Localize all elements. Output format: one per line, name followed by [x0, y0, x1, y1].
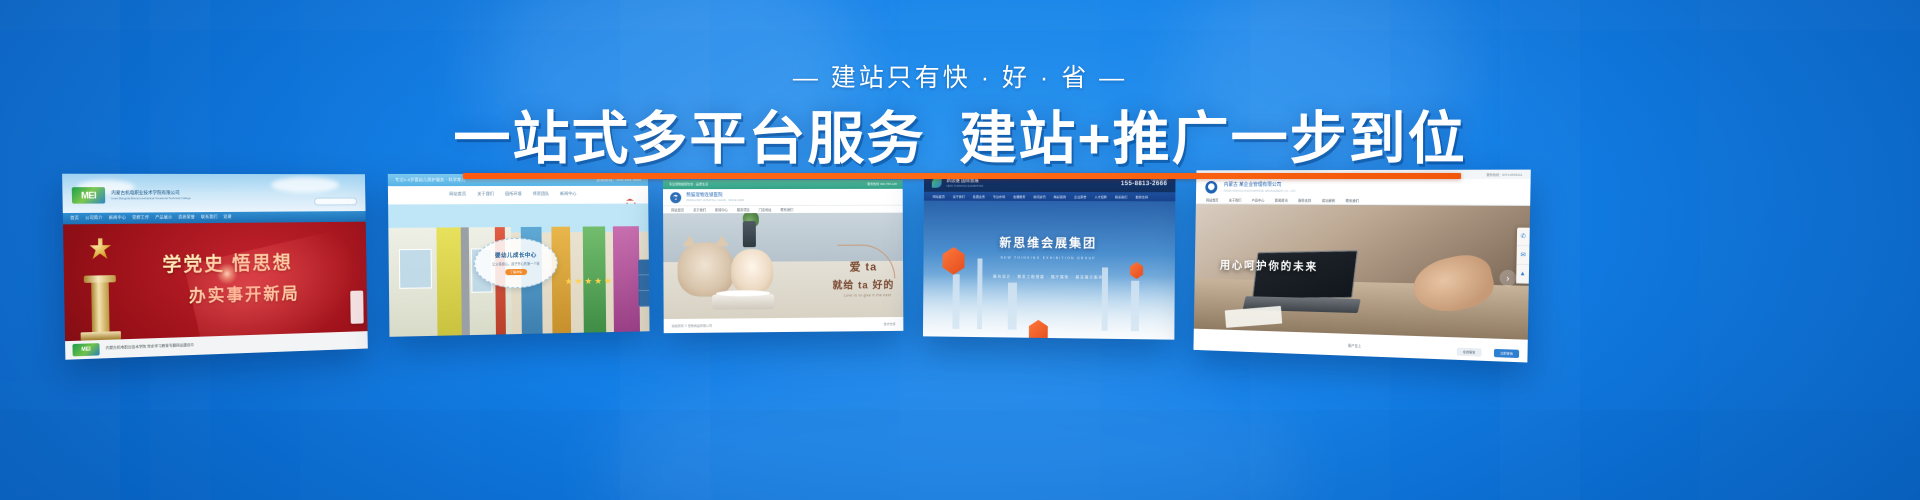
hero-photo-cats: 爱 ta 就给 ta 好的 Love is to give it the bes… — [663, 213, 903, 319]
party-emblem-icon — [86, 236, 113, 261]
nav-item[interactable]: 网站首页 — [671, 207, 684, 212]
website-card-pet[interactable]: 专注宠物健康饮食 · 品质生活 服务热线 400-766-128 熊猫宠物连锁医… — [663, 180, 903, 333]
hero-overlay-text: 用心呵护你的未来 — [1220, 257, 1319, 275]
footer-copyright: 版权所有 © 宠物用品有限公司 — [672, 324, 712, 328]
polygon-decoration — [941, 247, 967, 275]
hero-banner-party: 学党史 悟思想 办实事开新局 — [63, 222, 368, 341]
nav-item[interactable]: 服务项目 — [737, 207, 750, 212]
headline-left: 一站式多平台服务 — [453, 107, 925, 171]
banner-headline: 一站式多平台服务建站+推广一步到位 — [453, 108, 1466, 172]
bubble-subtitle: 让父母放心，孩子开心的第一个家 — [492, 261, 540, 267]
nav-item[interactable]: 联系我们 — [201, 214, 218, 220]
nav-item[interactable]: 联系我们 — [780, 207, 793, 212]
window-shape — [399, 249, 432, 289]
card-footer: 版权所有 © 宠物用品有限公司 技术支持 — [664, 317, 904, 333]
phone-icon[interactable] — [638, 260, 649, 276]
nav-item[interactable]: 首页 — [70, 215, 79, 221]
floating-side-widget[interactable] — [350, 291, 363, 324]
building-shape — [1007, 283, 1016, 330]
back-to-top-icon[interactable] — [639, 291, 650, 307]
wall-stripe — [437, 228, 462, 336]
wall-stripe — [613, 227, 639, 332]
hero-callout-bubble: 婴幼儿成长中心 让父母放心，孩子开心的第一个家 了解详情 — [474, 237, 558, 288]
hero-slogan-line2: 就给 ta 好的 — [832, 276, 894, 291]
headline-accent-underline — [463, 173, 1460, 179]
promo-banner: — 建站只有快 · 好 · 省 — 一站式多平台服务建站+推广一步到位 MEI … — [0, 0, 1920, 500]
back-to-top-icon[interactable]: ▲ — [1516, 265, 1529, 284]
headline-right: 建站+推广一步到位 — [959, 107, 1466, 171]
footer-text: 内蒙古机电职业技术学院 党史学习教育专题网站建设中 — [106, 343, 194, 351]
nav-item[interactable]: 新闻中心 — [715, 207, 728, 212]
building-shape — [953, 274, 960, 328]
hero-photo-office: 用心呵护你的未来 › — [1194, 204, 1530, 340]
hero-banner-exhibition: 新思维会展集团 NEW THINKING EXHIBITION GROUP 展台… — [923, 201, 1175, 340]
nav-item[interactable]: 资质荣誉 — [178, 214, 195, 220]
banner-tagline: — 建站只有快 · 好 · 省 — — [0, 58, 1920, 94]
message-icon[interactable]: ✉ — [1516, 246, 1529, 265]
hero-slogan-line1: 爱 ta — [832, 259, 894, 275]
nav-item[interactable]: 新闻中心 — [109, 215, 126, 221]
hero-photo-school: ★★★★★ 婴幼儿成长中心 让父母放心，孩子开心的第一个家 了解详情 — [388, 204, 649, 337]
hero-slogan-cn: 爱 ta 就给 ta 好的 — [832, 259, 894, 292]
hero-slogan-line1: 学党史 悟思想 — [162, 248, 293, 277]
card-screenshot-pet: 专注宠物健康饮食 · 品质生活 服务热线 400-766-128 熊猫宠物连锁医… — [663, 180, 903, 333]
building-shape — [977, 258, 982, 329]
floating-tools-rail[interactable] — [638, 260, 649, 307]
bubble-title: 婴幼儿成长中心 — [495, 251, 537, 259]
nav-item[interactable]: 关于我们 — [693, 207, 706, 212]
monument-column-icon — [91, 280, 110, 341]
vase-shape — [743, 221, 756, 247]
primary-button[interactable]: 立即咨询 — [1494, 349, 1519, 358]
sparkle-icon — [216, 263, 238, 285]
nav-item[interactable]: 门店地址 — [759, 207, 772, 212]
bubble-cta-button[interactable]: 了解详情 — [505, 269, 527, 275]
hero-slogan-line2: 办实事开新局 — [189, 279, 300, 307]
footer-credit: 技术支持 — [884, 322, 896, 326]
nav-item[interactable]: 党群工作 — [132, 214, 149, 220]
pet-bowl-shape — [712, 294, 774, 310]
nav-list[interactable]: 首页 公司简介 新闻中心 党群工作 产品展示 资质荣誉 联系我们 党建 — [63, 213, 366, 221]
nav-item[interactable]: 产品展示 — [155, 214, 172, 220]
floating-tools-rail[interactable]: ✆ ✉ ▲ — [1516, 227, 1530, 283]
footer-text: 客户至上 — [1348, 342, 1361, 347]
website-card-party[interactable]: MEI 内蒙古机电职业技术学院有限公司 Inner Mongolia Elect… — [62, 174, 368, 360]
cat-photo-left — [678, 243, 735, 298]
cat-photo-right — [731, 249, 773, 293]
carousel-next-icon[interactable]: › — [1499, 270, 1516, 287]
nav-item[interactable]: 党建 — [223, 214, 231, 220]
card-screenshot-party: MEI 内蒙古机电职业技术学院有限公司 Inner Mongolia Elect… — [62, 174, 368, 360]
phone-icon[interactable]: ✆ — [1517, 227, 1530, 246]
rating-stars: ★★★★★ — [565, 276, 614, 288]
hero-title: 新思维会展集团 — [924, 233, 1176, 251]
qrcode-icon[interactable] — [638, 275, 649, 291]
wall-stripe — [460, 228, 469, 336]
building-shape — [1131, 281, 1139, 331]
secondary-button[interactable]: 在线留言 — [1457, 348, 1482, 357]
hero-slogan-en: Love is to give it the best — [844, 293, 892, 297]
nav-item[interactable]: 公司简介 — [85, 215, 103, 221]
footer-logo-badge: MEI — [72, 343, 99, 356]
headline-block: — 建站只有快 · 好 · 省 — 一站式多平台服务建站+推广一步到位 — [0, 0, 1920, 200]
